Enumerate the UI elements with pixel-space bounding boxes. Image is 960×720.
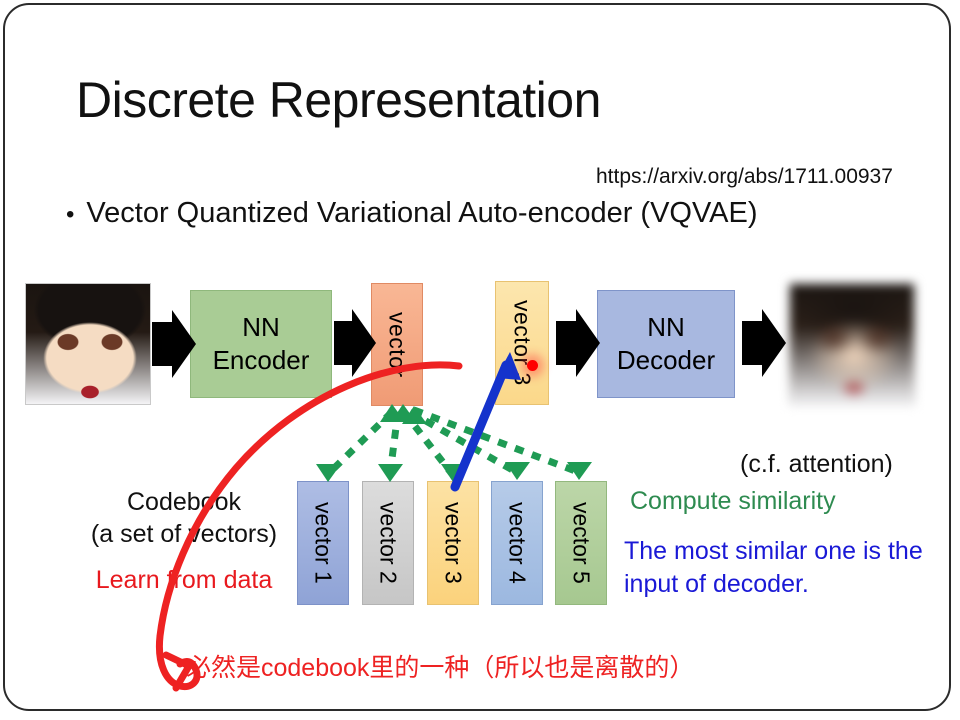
similarity-arrow-1 [328, 412, 392, 474]
codebook-vector-2-label: vector 2 [375, 502, 402, 584]
codebook-vector-4: vector 4 [491, 481, 543, 605]
similarity-arrow-2 [390, 412, 398, 474]
similarity-arrowhead-1 [316, 464, 341, 482]
codebook-vector-5-label: vector 5 [568, 502, 595, 584]
nn-encoder-box: NN Encoder [190, 290, 332, 398]
nn-decoder-box: NN Decoder [597, 290, 735, 398]
bullet-item: • Vector Quantized Variational Auto-enco… [66, 197, 758, 230]
similarity-arrow-5 [414, 410, 578, 472]
codebook-vector-2: vector 2 [362, 481, 414, 605]
similarity-arrowhead-5 [567, 462, 592, 480]
selected-vector-label: vector 3 [509, 300, 536, 386]
similarity-arrowhead-group [316, 404, 592, 482]
slide-canvas: Discrete Representation https://arxiv.or… [0, 0, 960, 720]
codebook-vector-3: vector 3 [427, 481, 479, 605]
paper-url-link[interactable]: https://arxiv.org/abs/1711.00937 [596, 165, 893, 189]
similarity-arrowhead-up-1 [380, 404, 405, 422]
similarity-arrowhead-4 [505, 462, 530, 480]
input-image-thumbnail [25, 283, 151, 405]
codebook-vector-3-label: vector 3 [440, 502, 467, 584]
nn-decoder-line1: NN [647, 311, 685, 344]
latent-vector-box: vector [371, 283, 423, 406]
similarity-arrowhead-2 [378, 464, 403, 482]
bullet-label: Vector Quantized Variational Auto-encode… [86, 197, 757, 230]
similarity-arrowhead-up-2 [391, 404, 416, 422]
codebook-caption-line1: Codebook [64, 487, 304, 519]
codebook-vector-4-label: vector 4 [504, 502, 531, 584]
codebook-caption-line2: (a set of vectors) [64, 519, 304, 551]
similarity-arrow-4 [410, 412, 516, 472]
nn-decoder-line2: Decoder [617, 344, 715, 377]
selected-vector-box: vector 3 [495, 281, 549, 405]
decoder-input-note: The most similar one is the input of dec… [624, 535, 944, 601]
similarity-arrowhead-3 [441, 464, 466, 482]
laser-pointer-dot [527, 360, 538, 371]
similarity-arrow-3 [404, 412, 452, 474]
similarity-arrow-group [328, 410, 578, 474]
page-title: Discrete Representation [76, 74, 601, 127]
output-image-thumbnail [789, 283, 915, 405]
learn-from-data-note: Learn from data [64, 566, 304, 595]
chinese-annotation-note: 必然是codebook里的一种（所以也是离散的） [186, 648, 694, 684]
similarity-arrowhead-up-3 [402, 406, 427, 424]
cf-attention-note: (c.f. attention) [740, 450, 893, 479]
latent-vector-label: vector [384, 312, 411, 378]
codebook-caption: Codebook (a set of vectors) [64, 487, 304, 550]
codebook-vector-5: vector 5 [555, 481, 607, 605]
bullet-marker: • [66, 203, 74, 227]
codebook-vector-1-label: vector 1 [310, 502, 337, 584]
flow-arrow-decoder-to-output [742, 309, 786, 377]
flow-arrow-vector3-to-decoder [556, 309, 600, 377]
compute-similarity-note: Compute similarity [630, 487, 836, 516]
codebook-vector-1: vector 1 [297, 481, 349, 605]
nn-encoder-line2: Encoder [213, 344, 310, 377]
flow-arrow-encoder-to-vector [334, 309, 376, 377]
nn-encoder-line1: NN [242, 311, 280, 344]
